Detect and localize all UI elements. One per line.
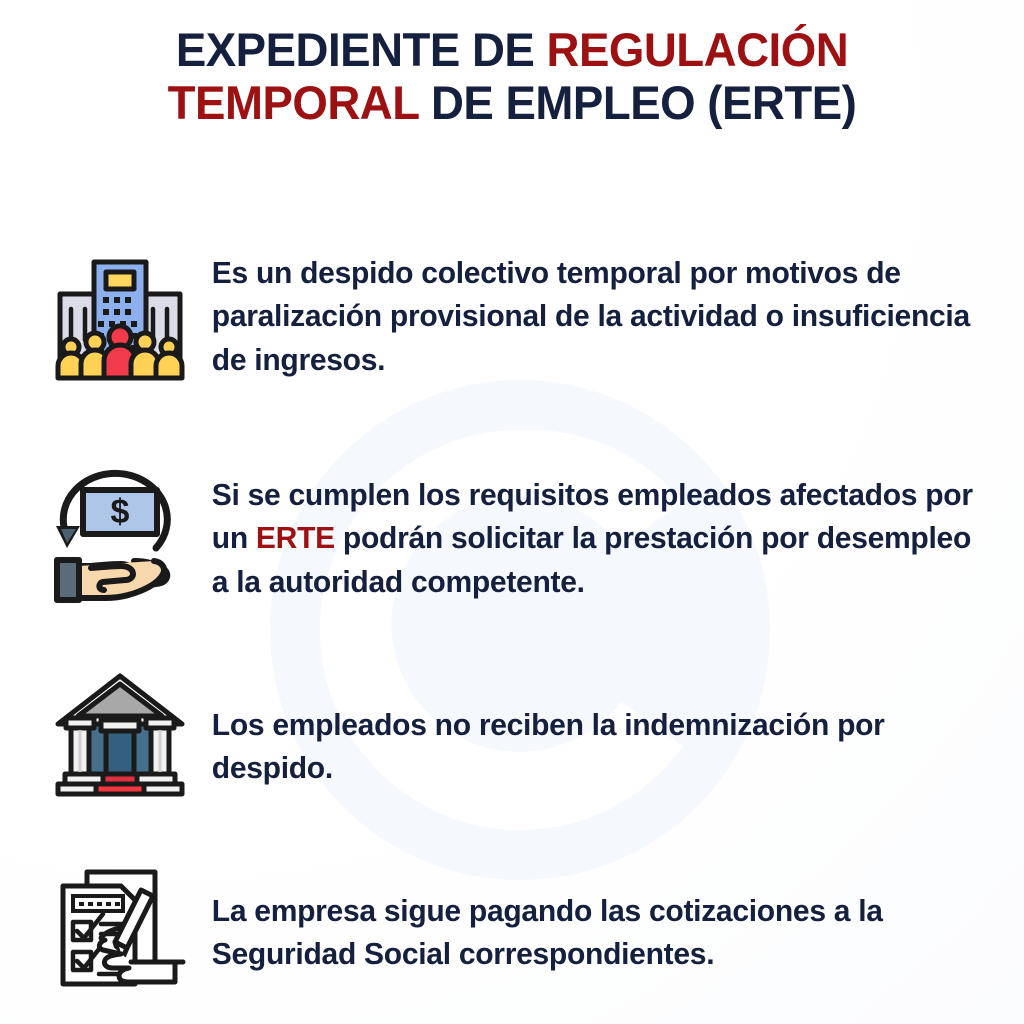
icon-cell xyxy=(44,662,196,798)
checklist-hand-pen-icon xyxy=(53,864,187,994)
list-item: $ Si se cumplen los requisitos empleados… xyxy=(44,452,1004,606)
list-item-text: Es un despido colectivo temporal por mot… xyxy=(196,246,992,382)
office-building-employees-icon xyxy=(54,252,186,384)
item-text-highlight: ERTE xyxy=(256,521,335,555)
svg-text:$: $ xyxy=(111,493,130,531)
title-line1-navy: EXPEDIENTE DE xyxy=(176,23,547,76)
title-line2-red: TEMPORAL xyxy=(168,76,419,129)
infographic-page: EXPEDIENTE DE REGULACIÓN TEMPORAL DE EMP… xyxy=(0,0,1024,1024)
title-line2-navy: DE EMPLEO (ERTE) xyxy=(419,76,857,129)
list-item-text: La empresa sigue pagando las cotizacione… xyxy=(196,856,992,977)
list-item: Es un despido colectivo temporal por mot… xyxy=(44,246,1004,384)
title-line1-red: REGULACIÓN xyxy=(547,23,849,76)
title-line-2: TEMPORAL DE EMPLEO (ERTE) xyxy=(15,77,1008,130)
hand-receiving-money-icon: $ xyxy=(52,456,188,606)
list-item: La empresa sigue pagando las cotizacione… xyxy=(44,856,1004,994)
title-line-1: EXPEDIENTE DE REGULACIÓN xyxy=(15,24,1008,77)
item-text-before: Los empleados no reciben la indemnizació… xyxy=(212,708,885,785)
page-title: EXPEDIENTE DE REGULACIÓN TEMPORAL DE EMP… xyxy=(0,24,1024,129)
list-item-text: Los empleados no reciben la indemnizació… xyxy=(196,662,992,791)
item-text-before: La empresa sigue pagando las cotizacione… xyxy=(212,894,883,971)
item-text-before: Es un despido colectivo temporal por mot… xyxy=(212,256,970,377)
icon-cell xyxy=(44,856,196,994)
list-item-text: Si se cumplen los requisitos empleados a… xyxy=(196,452,992,604)
icon-cell xyxy=(44,246,196,384)
icon-cell: $ xyxy=(44,452,196,606)
courthouse-columns-icon xyxy=(53,670,187,798)
list-item: Los empleados no reciben la indemnizació… xyxy=(44,662,1004,798)
